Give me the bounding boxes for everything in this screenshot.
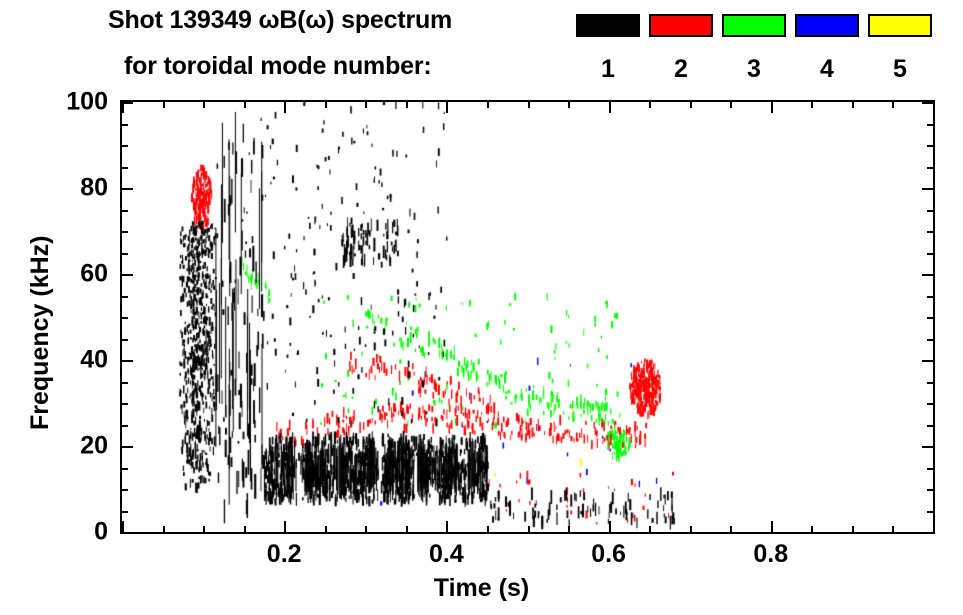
y-tick-5 <box>120 511 128 513</box>
page-title: Shot 139349 ωB(ω) spectrum <box>108 6 452 35</box>
y-tick-right-75 <box>927 210 935 212</box>
y-tick-10 <box>120 489 128 491</box>
x-tick-top-1.00 <box>933 100 935 113</box>
x-tick-0.30 <box>365 526 367 534</box>
y-tick-20 <box>120 446 133 448</box>
y-tick-right-50 <box>927 317 935 319</box>
x-tick-0.70 <box>690 526 692 534</box>
legend-label-4: 4 <box>795 55 859 84</box>
y-tick-label-20: 20 <box>28 432 108 461</box>
x-tick-top-0.05 <box>163 100 165 108</box>
x-tick-0.10 <box>203 526 205 534</box>
x-tick-top-0.25 <box>325 100 327 108</box>
x-tick-0.55 <box>568 526 570 534</box>
y-tick-right-80 <box>922 188 935 190</box>
y-tick-85 <box>120 167 128 169</box>
x-tick-0.40 <box>446 521 448 534</box>
y-tick-right-40 <box>922 360 935 362</box>
legend-swatch-1 <box>576 14 640 37</box>
y-tick-right-90 <box>927 145 935 147</box>
x-tick-0.25 <box>325 526 327 534</box>
x-tick-0.65 <box>649 526 651 534</box>
x-tick-0.05 <box>163 526 165 534</box>
x-tick-top-0.60 <box>609 100 611 113</box>
x-tick-top-0.10 <box>203 100 205 108</box>
x-tick-top-0.75 <box>730 100 732 108</box>
x-tick-top-0.20 <box>284 100 286 113</box>
x-tick-0.60 <box>609 521 611 534</box>
x-tick-label-0.6: 0.6 <box>564 540 654 569</box>
x-tick-0.15 <box>244 526 246 534</box>
x-tick-top-0.85 <box>811 100 813 108</box>
x-tick-top-0.40 <box>446 100 448 113</box>
y-tick-label-60: 60 <box>28 260 108 289</box>
x-tick-0.35 <box>406 526 408 534</box>
y-tick-right-55 <box>927 296 935 298</box>
y-tick-50 <box>120 317 128 319</box>
x-tick-0.90 <box>852 526 854 534</box>
y-tick-75 <box>120 210 128 212</box>
x-tick-top-0.50 <box>528 100 530 108</box>
legend-swatch-2 <box>649 14 713 37</box>
y-tick-right-60 <box>922 274 935 276</box>
legend-swatch-5 <box>868 14 932 37</box>
y-tick-right-30 <box>927 403 935 405</box>
x-axis-label: Time (s) <box>0 574 963 603</box>
y-tick-right-85 <box>927 167 935 169</box>
x-tick-0.20 <box>284 521 286 534</box>
y-tick-right-20 <box>922 446 935 448</box>
spectrogram-canvas <box>122 102 933 532</box>
page-subtitle: for toroidal mode number: <box>124 52 432 81</box>
legend-label-3: 3 <box>722 55 786 84</box>
x-tick-top-0.35 <box>406 100 408 108</box>
y-tick-right-65 <box>927 253 935 255</box>
x-tick-top-0.90 <box>852 100 854 108</box>
y-tick-40 <box>120 360 133 362</box>
y-tick-70 <box>120 231 128 233</box>
x-tick-top-0.95 <box>892 100 894 108</box>
x-tick-top-0.30 <box>365 100 367 108</box>
legend-swatch-3 <box>722 14 786 37</box>
legend-label-5: 5 <box>868 55 932 84</box>
x-tick-top-0.70 <box>690 100 692 108</box>
y-tick-label-40: 40 <box>28 346 108 375</box>
y-tick-90 <box>120 145 128 147</box>
y-tick-label-0: 0 <box>28 518 108 547</box>
legend-swatch-4 <box>795 14 859 37</box>
y-tick-right-95 <box>927 124 935 126</box>
y-tick-right-5 <box>927 511 935 513</box>
x-tick-label-0.8: 0.8 <box>726 540 816 569</box>
x-tick-0.85 <box>811 526 813 534</box>
y-tick-25 <box>120 425 128 427</box>
y-tick-right-25 <box>927 425 935 427</box>
x-tick-0.45 <box>487 526 489 534</box>
y-tick-45 <box>120 339 128 341</box>
y-tick-right-15 <box>927 468 935 470</box>
x-tick-0.80 <box>771 521 773 534</box>
x-tick-0.50 <box>528 526 530 534</box>
y-tick-label-100: 100 <box>28 88 108 117</box>
y-tick-label-80: 80 <box>28 174 108 203</box>
x-tick-1.00 <box>933 521 935 534</box>
x-tick-top-0.80 <box>771 100 773 113</box>
y-tick-right-45 <box>927 339 935 341</box>
legend-label-1: 1 <box>576 55 640 84</box>
x-tick-0.95 <box>892 526 894 534</box>
spectrogram-figure: Shot 139349 ωB(ω) spectrum for toroidal … <box>0 0 963 615</box>
y-tick-right-35 <box>927 382 935 384</box>
y-tick-95 <box>120 124 128 126</box>
y-tick-35 <box>120 382 128 384</box>
x-tick-0.00 <box>122 521 124 534</box>
x-tick-top-0.00 <box>122 100 124 113</box>
x-tick-0.75 <box>730 526 732 534</box>
x-tick-label-0.4: 0.4 <box>401 540 491 569</box>
y-tick-55 <box>120 296 128 298</box>
y-tick-right-70 <box>927 231 935 233</box>
x-tick-top-0.65 <box>649 100 651 108</box>
y-tick-80 <box>120 188 133 190</box>
x-tick-top-0.55 <box>568 100 570 108</box>
x-tick-label-0.2: 0.2 <box>239 540 329 569</box>
legend-label-2: 2 <box>649 55 713 84</box>
x-tick-top-0.15 <box>244 100 246 108</box>
y-tick-30 <box>120 403 128 405</box>
y-tick-right-10 <box>927 489 935 491</box>
y-tick-65 <box>120 253 128 255</box>
x-tick-top-0.45 <box>487 100 489 108</box>
y-tick-60 <box>120 274 133 276</box>
plot-area <box>120 100 935 534</box>
y-tick-15 <box>120 468 128 470</box>
